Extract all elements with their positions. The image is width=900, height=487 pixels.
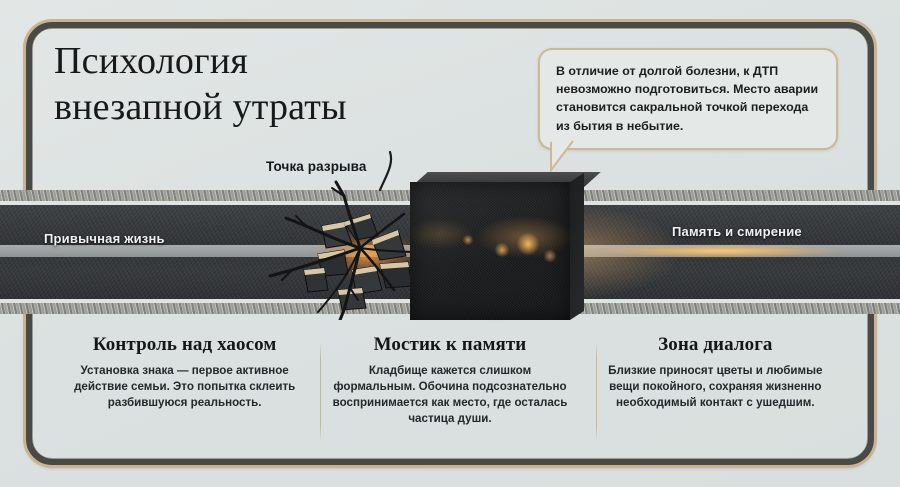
granite-monolith bbox=[410, 172, 583, 320]
insight-column-body: Кладбище кажется слишком формальным. Обо… bbox=[329, 363, 570, 427]
insight-column-dialogue: Зона диалога Близкие приносят цветы и лю… bbox=[583, 334, 848, 452]
insight-columns: Контроль над хаосом Установка знака — пе… bbox=[52, 334, 848, 452]
road-label-before: Привычная жизнь bbox=[44, 231, 165, 246]
page-title-line-1: Психология bbox=[54, 40, 248, 82]
insight-column-control: Контроль над хаосом Установка знака — пе… bbox=[52, 334, 317, 452]
page-title: Психология внезапной утраты bbox=[54, 38, 484, 131]
insight-column-heading: Контроль над хаосом bbox=[64, 334, 305, 356]
road-stripe-glow bbox=[600, 243, 900, 259]
page-title-line-2: внезапной утраты bbox=[54, 84, 484, 130]
road-label-after: Память и смирение bbox=[672, 224, 802, 239]
insight-column-heading: Мостик к памяти bbox=[329, 334, 570, 356]
insight-column-body: Установка знака — первое активное действ… bbox=[64, 363, 305, 411]
insight-callout-bubble: В отличие от долгой болезни, к ДТП невоз… bbox=[538, 48, 838, 150]
insight-column-memory: Мостик к памяти Кладбище кажется слишком… bbox=[317, 334, 582, 452]
insight-callout-text: В отличие от долгой болезни, к ДТП невоз… bbox=[556, 62, 820, 135]
breakpoint-label: Точка разрыва bbox=[266, 159, 367, 174]
infographic-canvas: Психология внезапной утраты В отличие от… bbox=[0, 0, 900, 487]
monolith-side-face bbox=[570, 173, 584, 320]
insight-column-heading: Зона диалога bbox=[595, 334, 836, 356]
monolith-front-face bbox=[410, 182, 570, 320]
insight-column-body: Близкие приносят цветы и любимые вещи по… bbox=[595, 363, 836, 411]
